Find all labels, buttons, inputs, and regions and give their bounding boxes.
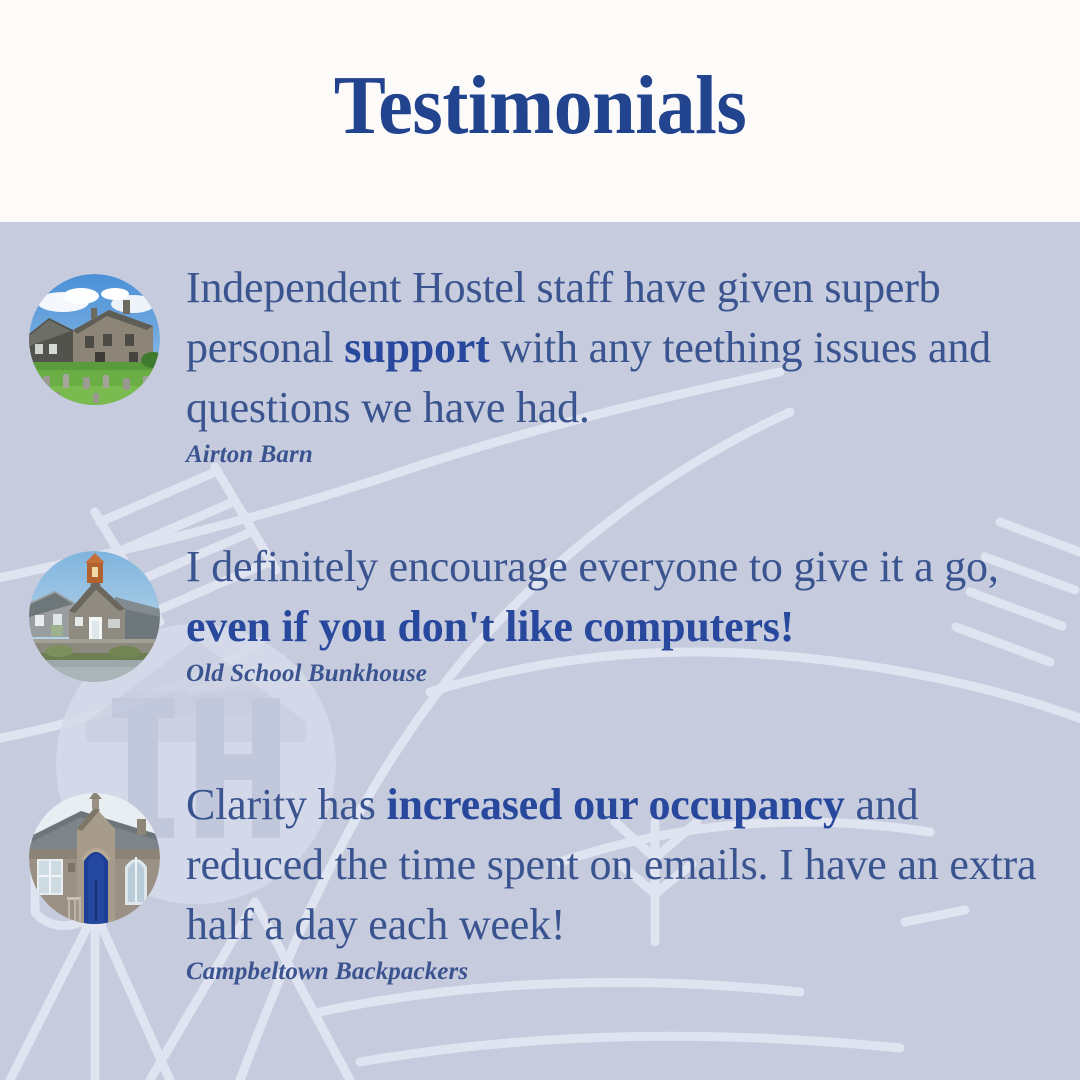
quote-highlight: even if you don't like computers! <box>186 602 794 651</box>
testimonial-list: Independent Hostel staff have given supe… <box>0 222 1080 1080</box>
testimonials-slide: Testimonials <box>0 0 1080 1080</box>
quote-before: I definitely encourage everyone to give … <box>186 542 999 591</box>
avatar-old-school-bunkhouse <box>29 551 160 682</box>
header-band: Testimonials <box>0 0 1080 222</box>
quote-before: Clarity has <box>186 780 386 829</box>
attribution: Old School Bunkhouse <box>186 658 1050 690</box>
avatar-campbeltown-backpackers <box>29 793 160 924</box>
quote-text: I definitely encourage everyone to give … <box>186 537 1050 657</box>
page-title: Testimonials <box>38 64 1042 148</box>
quote-block: Independent Hostel staff have given supe… <box>160 258 1080 471</box>
attribution: Airton Barn <box>186 439 1050 471</box>
testimonial-item: I definitely encourage everyone to give … <box>0 551 1080 690</box>
quote-block: Clarity has increased our occupancy and … <box>160 775 1080 988</box>
testimonial-item: Independent Hostel staff have given supe… <box>0 274 1080 471</box>
attribution: Campbeltown Backpackers <box>186 956 1050 988</box>
testimonial-item: Clarity has increased our occupancy and … <box>0 793 1080 988</box>
quote-text: Independent Hostel staff have given supe… <box>186 258 1050 438</box>
quote-block: I definitely encourage everyone to give … <box>160 537 1080 690</box>
avatar-airton-barn <box>29 274 160 405</box>
quote-text: Clarity has increased our occupancy and … <box>186 775 1050 955</box>
quote-highlight: support <box>344 323 489 372</box>
quote-highlight: increased our occupancy <box>386 780 844 829</box>
